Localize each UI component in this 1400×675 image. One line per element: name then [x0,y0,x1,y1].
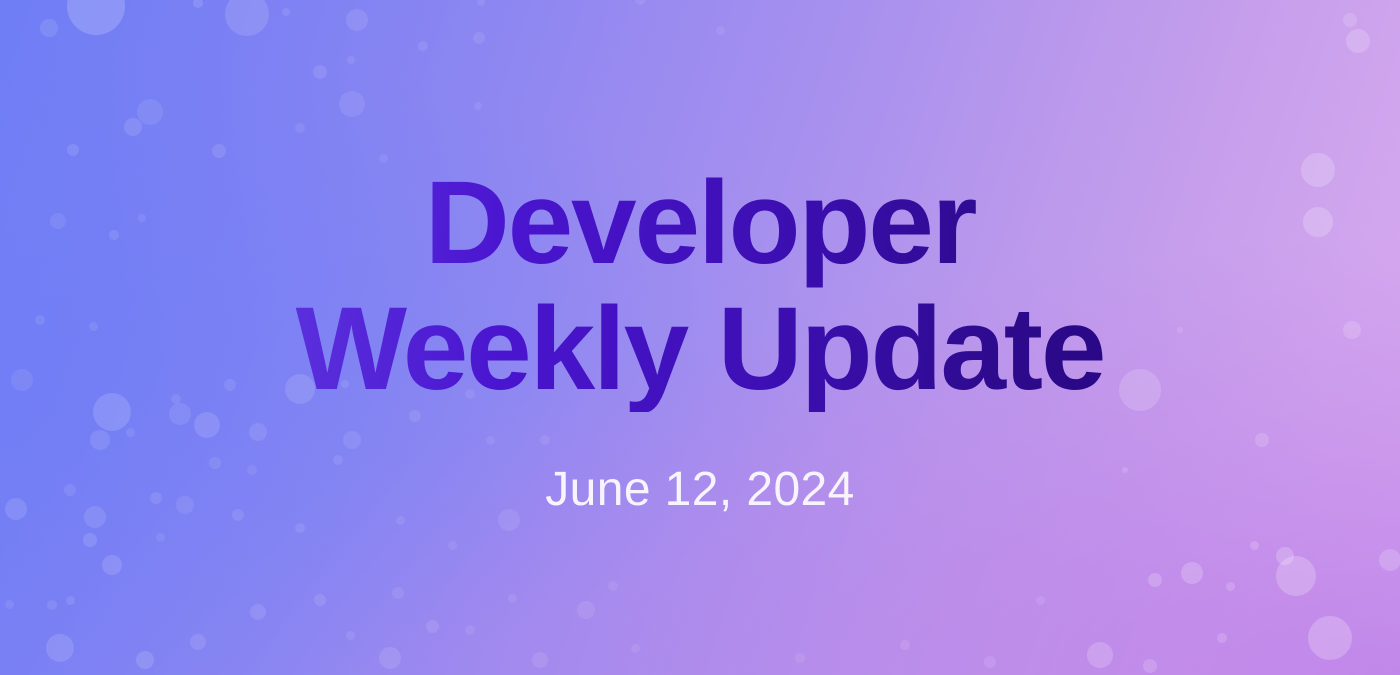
banner-content: Developer Weekly Update June 12, 2024 [0,0,1400,675]
developer-weekly-update-banner: Developer Weekly Update June 12, 2024 [0,0,1400,675]
page-title-line-2: Weekly Update [296,287,1105,412]
page-title: Developer Weekly Update [296,161,1105,411]
banner-date-subtitle: June 12, 2024 [545,412,854,514]
page-title-line-1: Developer [296,161,1105,286]
